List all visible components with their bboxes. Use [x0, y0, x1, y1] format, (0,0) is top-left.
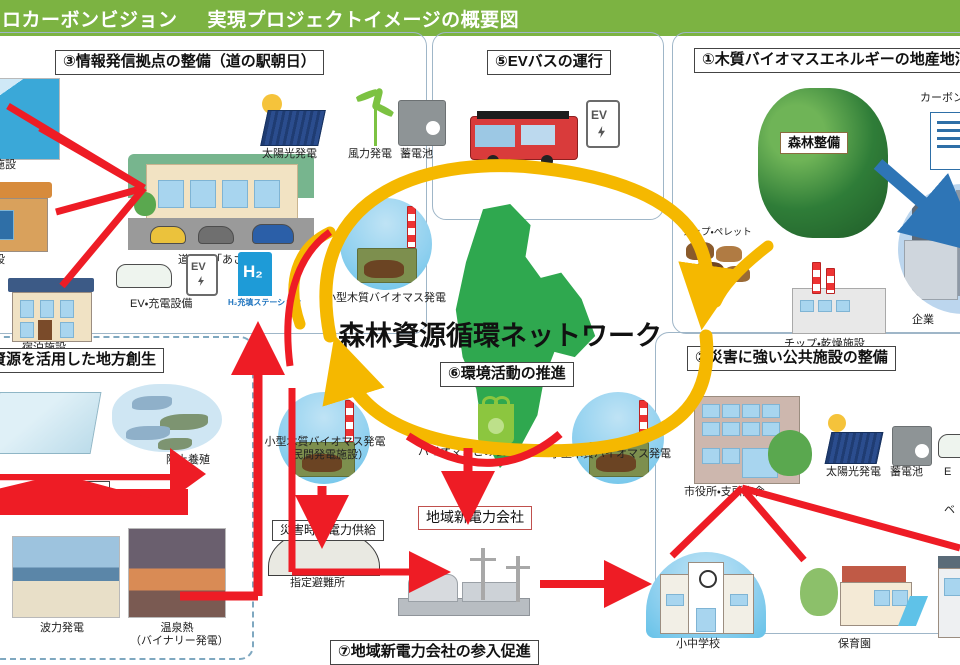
section-2-title: ②災害に強い公共施設の整備: [687, 346, 896, 371]
power-plant-illustration: [398, 554, 528, 618]
battery-label: 蓄電池: [400, 148, 433, 161]
pool-facility-photo: [0, 78, 60, 160]
section-7-title: ⑦地域新電力会社の参入促進: [330, 640, 539, 665]
wood-chips-illustration-2: [716, 246, 742, 262]
greenhouse-illustration: [0, 392, 101, 454]
designated-shelter-label: 指定避難所: [290, 577, 345, 590]
small-biomass-private-label: 小型木質バイオマス発電 （民間発電施設）: [262, 436, 388, 461]
fish-icon-3: [126, 426, 170, 440]
fish-icon: [132, 396, 172, 410]
disaster-power-label: 災害時の電力供給: [272, 520, 384, 541]
small-biomass-plant-right: [572, 392, 664, 484]
section-4-title: ネ資源を活用した地方創生: [0, 348, 164, 373]
biomass-garbage-bag-icon: [478, 404, 514, 444]
small-biomass-plant-top: [340, 198, 432, 290]
wood-chips-illustration-4: [724, 266, 750, 282]
wave-power-photo: [12, 536, 120, 618]
section-3-title: ③情報発信拠点の整備（道の駅朝日）: [55, 50, 324, 75]
small-biomass-top-label: 小型木質バイオマス発電: [325, 292, 446, 305]
nursery-illustration: [800, 558, 920, 638]
pool-facility-label: 施設: [0, 159, 16, 172]
carbon-credit-label: カーボン: [920, 92, 960, 105]
car-yellow: [150, 226, 186, 244]
wood-chips-illustration-3: [694, 262, 724, 280]
city-hall-illustration: [694, 396, 798, 482]
header-title-right: 実現プロジェクトイメージの概要図: [208, 5, 520, 32]
lodging-illustration: [8, 278, 94, 340]
ev-charging-station-icon: EV: [186, 254, 218, 296]
chip-drying-plant-illustration: [792, 266, 884, 332]
sun-icon-2: [828, 414, 846, 432]
shrine-facility-illustration: [0, 176, 52, 254]
battery-icon-2: [892, 426, 932, 466]
car-blue: [252, 224, 294, 244]
solar-panel-icon: [260, 110, 326, 146]
school-illustration: [646, 552, 766, 638]
public-building-right-cut: [938, 556, 960, 636]
solar-panel-icon-2: [825, 432, 884, 464]
aquaculture-label: 陸上養殖: [166, 454, 210, 467]
wave-power-label: 波力発電: [40, 622, 84, 635]
fish-icon-4: [158, 438, 192, 450]
section-6-title: ⑥環境活動の推進: [440, 362, 574, 387]
section-5-title: ⑤EVバスの運行: [487, 50, 611, 75]
network-title: 森林資源循環ネットワーク: [338, 314, 662, 353]
facility-cut-label: 設: [0, 254, 5, 267]
solar-label-2: 太陽光発電: [826, 466, 881, 479]
wind-label: 風力発電: [348, 148, 392, 161]
forest-illustration: [758, 88, 888, 238]
small-biomass-right-label: 小型木質バイオマス発電: [550, 448, 671, 461]
city-hall-label: 市役所・支所庁舎: [684, 486, 765, 499]
h2-station-icon: H₂: [238, 252, 272, 296]
ev-charge-label: EV・充電設備: [130, 298, 192, 311]
page-header: ロカーボンビジョン 実現プロジェクトイメージの概要図: [0, 0, 960, 36]
solar-label: 太陽光発電: [262, 148, 317, 161]
onsen-heat-label: 温泉熱 （バイナリー発電）: [130, 622, 224, 647]
ev-label-cut: E: [944, 466, 951, 479]
h2-station-label: H₂充填ステーション: [228, 298, 301, 307]
battery-icon: [398, 100, 446, 146]
section-1-title: ①木質バイオマスエネルギーの地産地消: [694, 48, 960, 73]
chip-pellet-label: チップ・ペレット: [682, 228, 752, 239]
wood-chips-illustration: [686, 242, 714, 260]
car-grey: [198, 226, 234, 244]
ev-bus-illustration: [470, 116, 578, 160]
ev-car-illustration: [116, 264, 172, 288]
diagram-canvas: ③情報発信拠点の整備（道の駅朝日） 施設 設 宿泊施設 道の駅「あさひ」: [0, 36, 960, 640]
roadside-station-illustration: [128, 154, 314, 250]
ev-car-illustration-2: [938, 434, 960, 458]
right-cut-label: ベ: [944, 504, 955, 517]
bus-ev-charger-icon: EV: [586, 100, 620, 148]
wind-turbine-icon: [352, 82, 398, 146]
carbon-credit-document-icon: [930, 112, 960, 170]
header-title-left: ロカーボンビジョン: [2, 5, 178, 32]
onsen-heat-photo: [128, 528, 226, 618]
new-power-company-label: 地域新電力会社: [418, 506, 532, 530]
biomass-bag-label: バイオマスごみ袋: [418, 446, 506, 459]
forest-maintenance-label: 森林整備: [780, 132, 848, 154]
power-supply-label: 電力供給: [42, 481, 110, 503]
company-label: 企業: [912, 314, 934, 327]
battery-label-2: 蓄電池: [890, 466, 923, 479]
